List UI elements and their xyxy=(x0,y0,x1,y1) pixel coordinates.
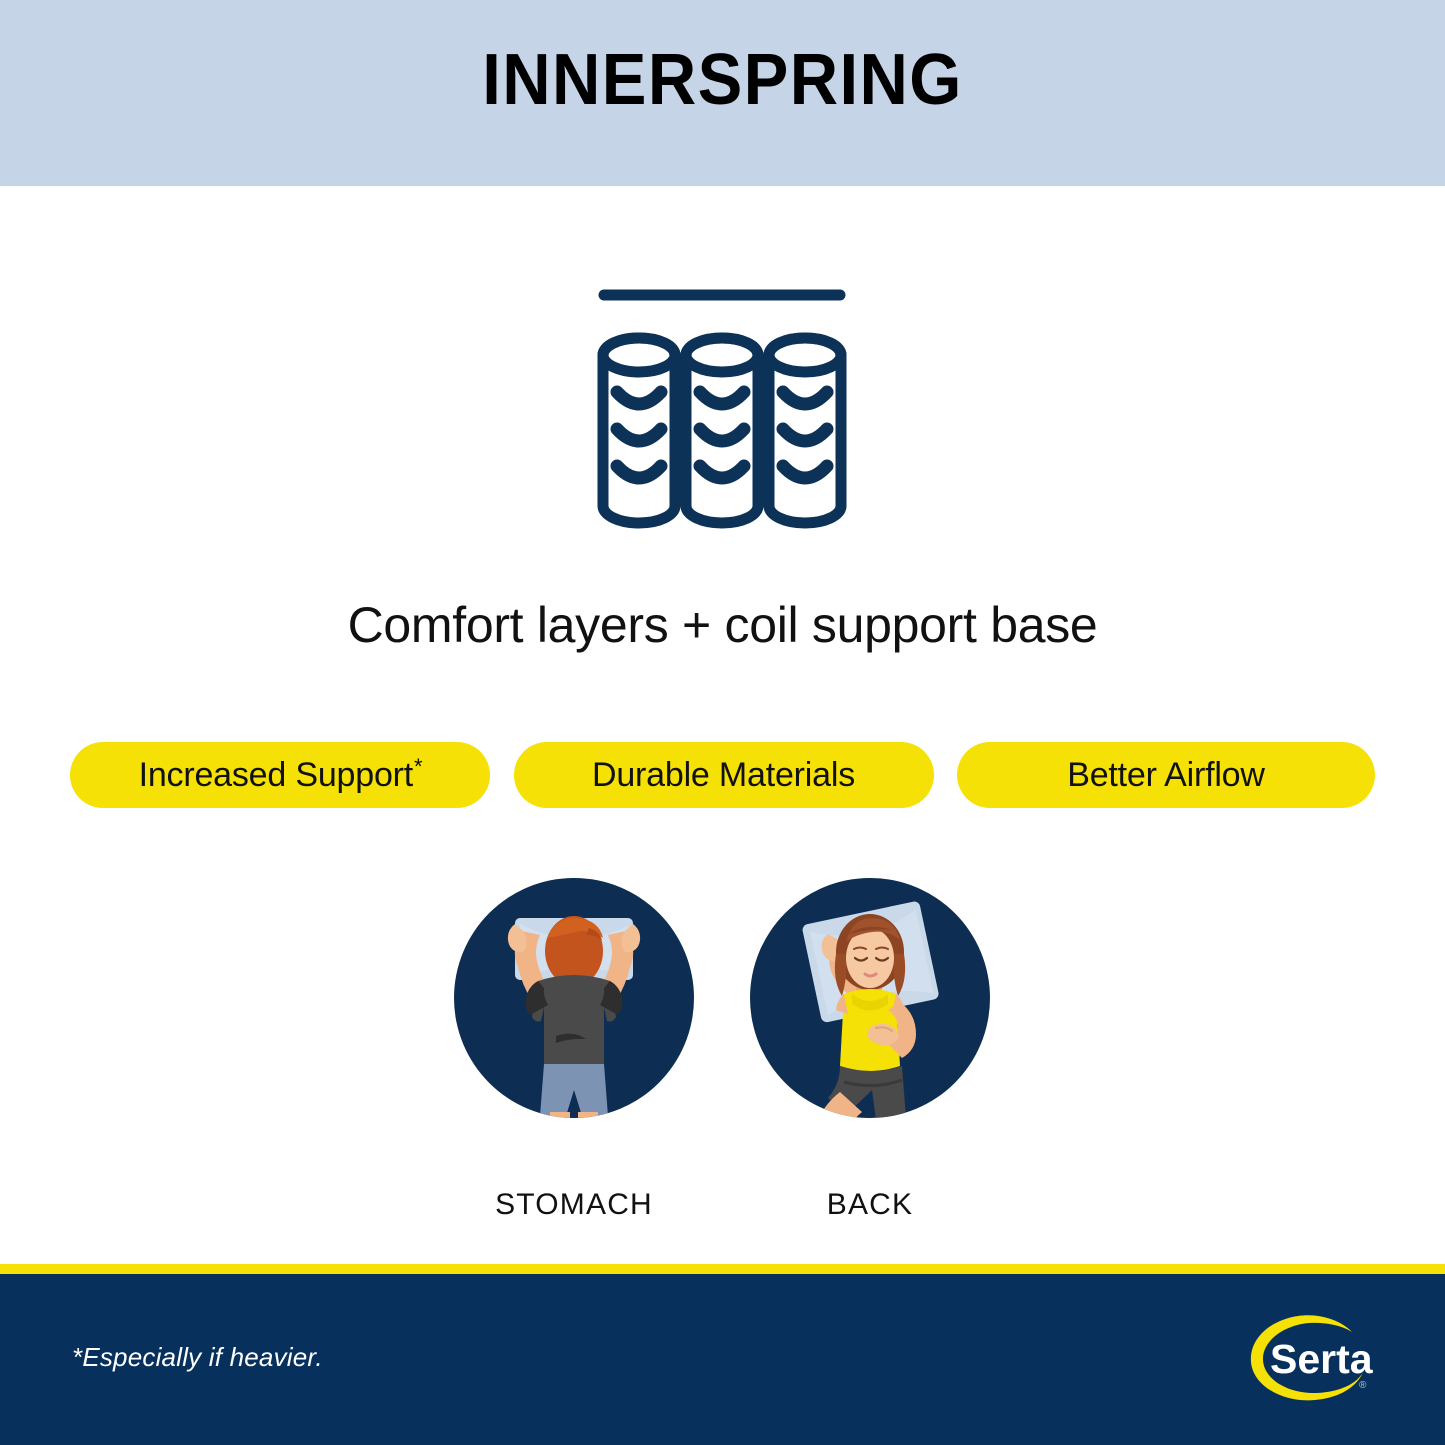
badge-increased-support[interactable]: Increased Support* xyxy=(70,742,490,808)
subtitle: Comfort layers + coil support base xyxy=(0,598,1445,653)
badge-label: Durable Materials xyxy=(592,756,855,795)
badge-better-airflow[interactable]: Better Airflow xyxy=(957,742,1375,808)
page-title: INNERSPRING xyxy=(51,44,1395,116)
footnote-text: *Especially if heavier. xyxy=(72,1342,323,1373)
serta-wordmark: Serta xyxy=(1270,1336,1374,1382)
label-stomach: STOMACH xyxy=(452,1188,696,1222)
stomach-sleeper-illustration xyxy=(452,876,696,1120)
footer-accent-stripe xyxy=(0,1264,1445,1274)
benefit-badge-row: Increased Support* Durable Materials Bet… xyxy=(70,742,1375,808)
label-back: BACK xyxy=(748,1188,992,1222)
sleep-position-illustrations xyxy=(452,876,992,1126)
infographic-page: INNERSPRING xyxy=(0,0,1445,1445)
badge-label: Better Airflow xyxy=(1067,756,1265,795)
badge-durable-materials[interactable]: Durable Materials xyxy=(514,742,934,808)
registered-trademark-mark: ® xyxy=(1359,1380,1367,1391)
sleep-position-labels: STOMACH BACK xyxy=(452,1188,992,1228)
badge-label: Increased Support xyxy=(139,756,413,795)
back-sleeper-illustration xyxy=(748,876,992,1120)
coil-spring-icon xyxy=(592,278,852,540)
serta-logo: Serta ® xyxy=(1243,1310,1378,1415)
